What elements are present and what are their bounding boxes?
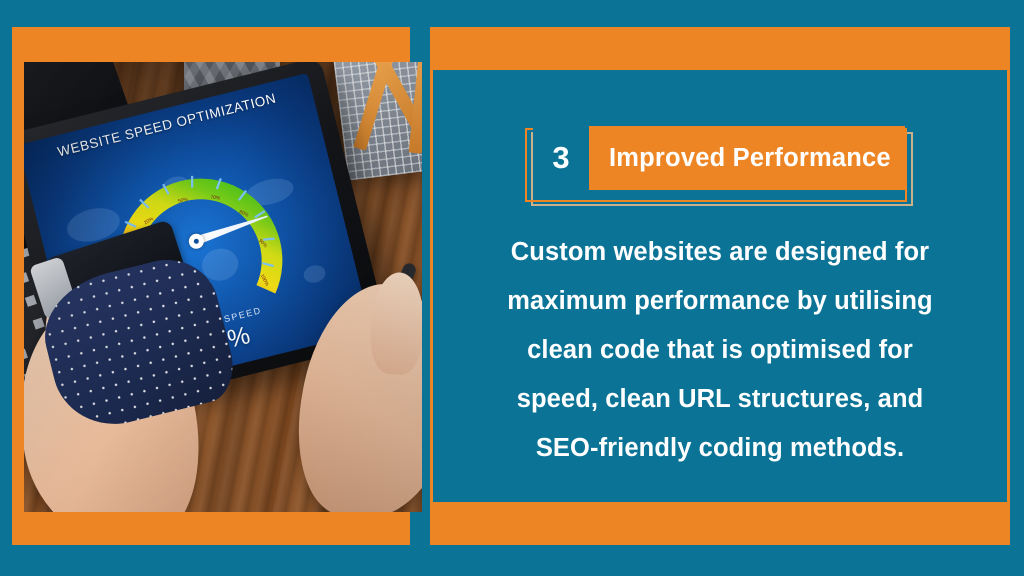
- right-thumb: [369, 271, 422, 376]
- svg-text:70%: 70%: [210, 195, 221, 202]
- badge-zone: 3 Improved Performance: [433, 126, 1007, 208]
- body-line: SEO-friendly coding methods.: [459, 424, 981, 473]
- badge-number: 3: [533, 122, 589, 194]
- body-line: clean code that is optimised for: [459, 326, 981, 375]
- photo-frame: WEBSITE SPEED OPTIMIZATION: [24, 62, 422, 512]
- badge-title: Improved Performance: [609, 144, 891, 173]
- body-copy: Custom websites are designed for maximum…: [459, 228, 981, 473]
- slide-root: WEBSITE SPEED OPTIMIZATION: [0, 0, 1024, 576]
- badge-bar: 3 Improved Performance: [533, 126, 905, 190]
- panel-bottom-band: [433, 502, 1007, 542]
- body-line: Custom websites are designed for: [459, 228, 981, 277]
- desk-photo: WEBSITE SPEED OPTIMIZATION: [24, 62, 422, 512]
- body-line: maximum performance by utilising: [459, 277, 981, 326]
- body-line: speed, clean URL structures, and: [459, 375, 981, 424]
- left-image-block: WEBSITE SPEED OPTIMIZATION: [0, 0, 430, 576]
- content-panel: 3 Improved Performance Custom websites a…: [430, 27, 1010, 545]
- panel-top-band: [433, 30, 1007, 70]
